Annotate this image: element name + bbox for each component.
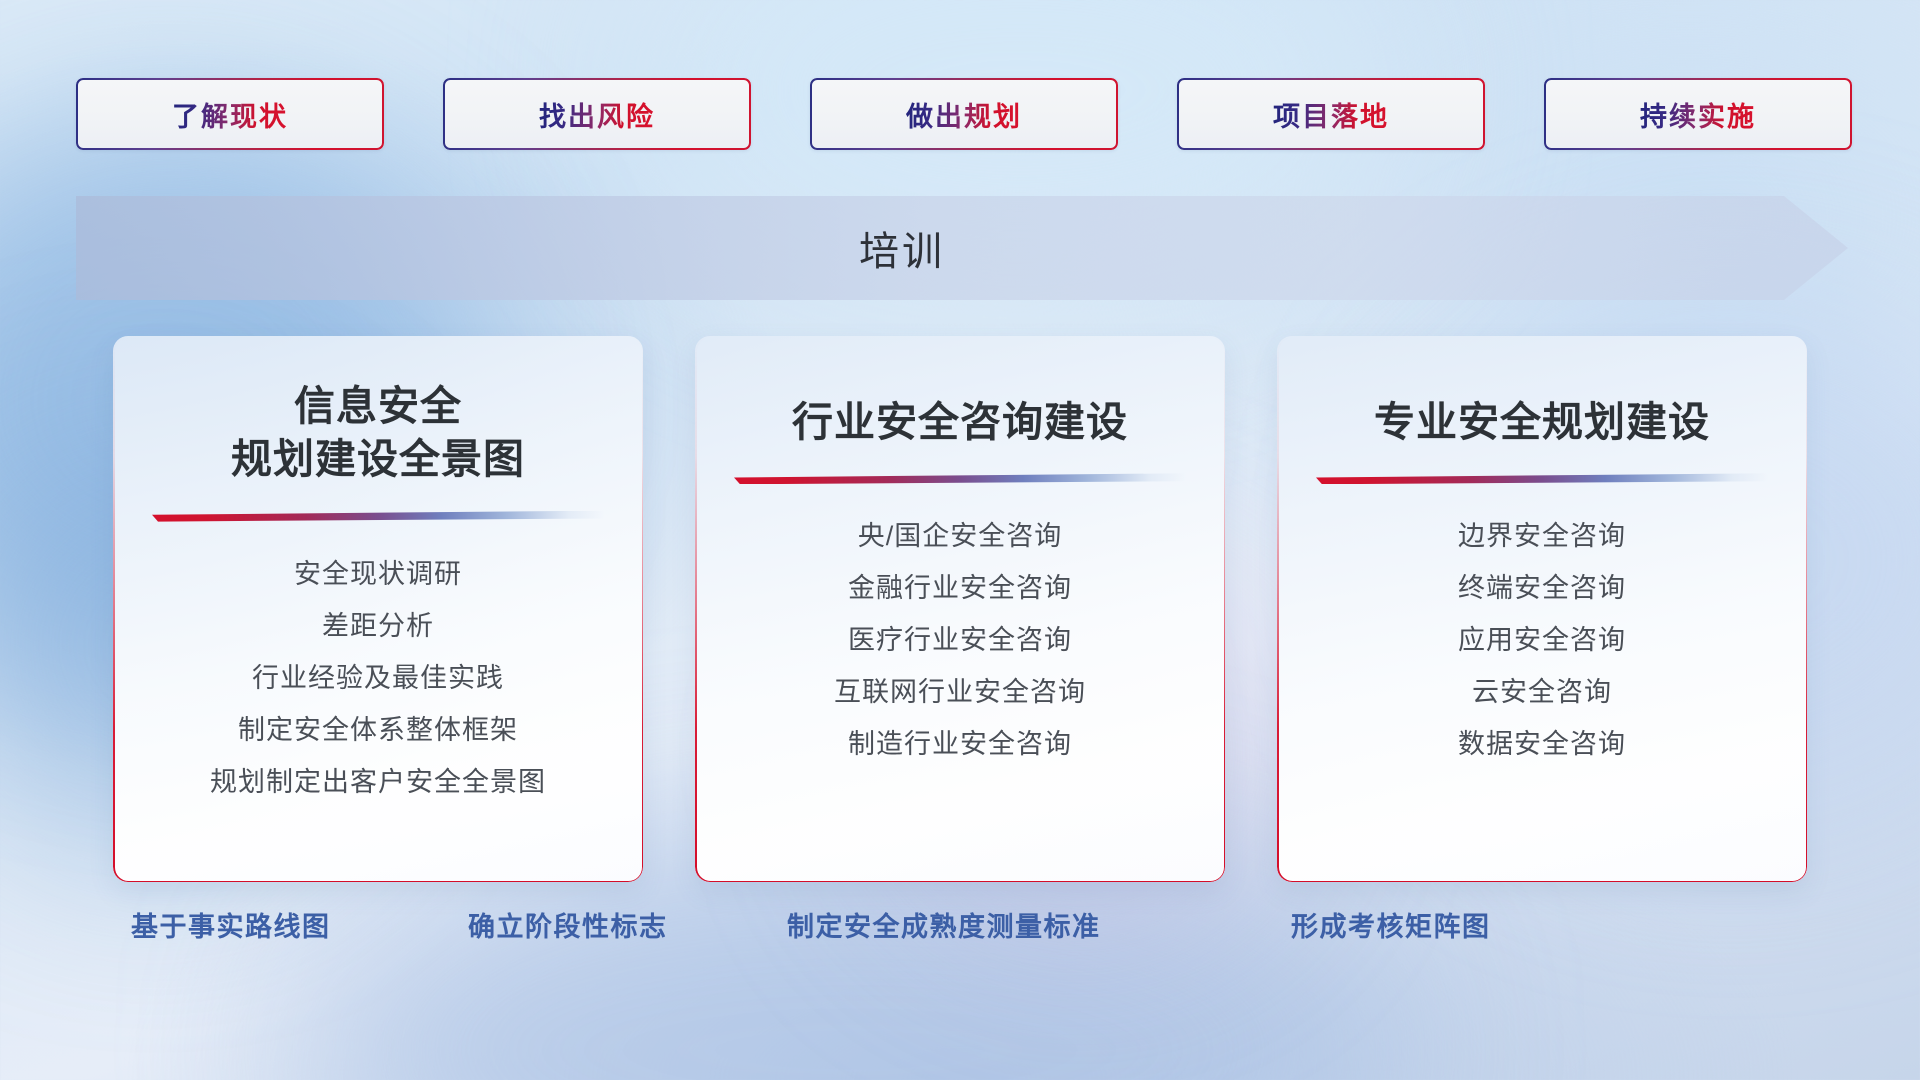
card-group: 信息安全 规划建设全景图 安全现状调研 差距分析 行业经验及最佳实践 制定安全体…	[0, 336, 1920, 882]
card-information-security-blueprint[interactable]: 信息安全 规划建设全景图 安全现状调研 差距分析 行业经验及最佳实践 制定安全体…	[113, 336, 643, 882]
step-chip-5[interactable]: 持续实施	[1544, 78, 1852, 150]
card-title-line: 信息安全	[231, 380, 525, 433]
list-item: 云安全咨询	[1472, 666, 1612, 718]
step-chip-label: 做出规划	[906, 95, 1022, 134]
card-industry-security-consulting[interactable]: 行业安全咨询建设 央/国企安全咨询 金融行业安全咨询 医疗行业安全咨询 互联网行…	[695, 336, 1225, 882]
card-list: 边界安全咨询 终端安全咨询 应用安全咨询 云安全咨询 数据安全咨询	[1458, 510, 1626, 770]
card-title-line: 规划建设全景图	[231, 433, 525, 486]
card-divider	[152, 511, 604, 522]
list-item: 终端安全咨询	[1458, 562, 1626, 614]
card-list: 安全现状调研 差距分析 行业经验及最佳实践 制定安全体系整体框架 规划制定出客户…	[210, 548, 546, 808]
list-item: 制造行业安全咨询	[848, 718, 1072, 770]
caption-phase-milestones: 确立阶段性标志	[468, 905, 668, 944]
caption-fact-based-roadmap: 基于事实路线图	[131, 905, 331, 944]
card-list: 央/国企安全咨询 金融行业安全咨询 医疗行业安全咨询 互联网行业安全咨询 制造行…	[834, 510, 1086, 770]
card-divider	[1316, 473, 1768, 484]
step-chip-label: 找出风险	[539, 95, 655, 134]
card-title: 专业安全规划建设	[1374, 396, 1710, 449]
banner-label: 培训	[76, 196, 1848, 300]
caption-maturity-measurement: 制定安全成熟度测量标准	[787, 905, 1101, 944]
process-steps: 了解现状 找出风险 做出规划 项目落地 持续实施	[0, 0, 1920, 160]
caption-row: 基于事实路线图 确立阶段性标志 制定安全成熟度测量标准 形成考核矩阵图	[0, 905, 1920, 975]
list-item: 央/国企安全咨询	[858, 510, 1063, 562]
list-item: 医疗行业安全咨询	[848, 614, 1072, 666]
list-item: 互联网行业安全咨询	[834, 666, 1086, 718]
list-item: 规划制定出客户安全全景图	[210, 756, 546, 808]
list-item: 金融行业安全咨询	[848, 562, 1072, 614]
training-banner: 培训	[76, 196, 1848, 300]
card-title: 信息安全 规划建设全景图	[231, 380, 525, 487]
card-divider	[734, 473, 1186, 484]
step-chip-2[interactable]: 找出风险	[443, 78, 751, 150]
step-chip-3[interactable]: 做出规划	[810, 78, 1118, 150]
step-chip-label: 项目落地	[1273, 95, 1389, 134]
step-chip-label: 了解现状	[172, 95, 288, 134]
card-title: 行业安全咨询建设	[792, 396, 1128, 449]
list-item: 数据安全咨询	[1458, 718, 1626, 770]
list-item: 应用安全咨询	[1458, 614, 1626, 666]
list-item: 制定安全体系整体框架	[238, 704, 518, 756]
list-item: 边界安全咨询	[1458, 510, 1626, 562]
list-item: 差距分析	[322, 600, 434, 652]
list-item: 安全现状调研	[294, 548, 462, 600]
card-title-line: 行业安全咨询建设	[792, 396, 1128, 449]
card-professional-security-planning[interactable]: 专业安全规划建设 边界安全咨询 终端安全咨询 应用安全咨询 云安全咨询 数据安全…	[1277, 336, 1807, 882]
list-item: 行业经验及最佳实践	[252, 652, 504, 704]
step-chip-label: 持续实施	[1640, 95, 1756, 134]
card-title-line: 专业安全规划建设	[1374, 396, 1710, 449]
step-chip-4[interactable]: 项目落地	[1177, 78, 1485, 150]
caption-assessment-matrix: 形成考核矩阵图	[1291, 905, 1491, 944]
step-chip-1[interactable]: 了解现状	[76, 78, 384, 150]
